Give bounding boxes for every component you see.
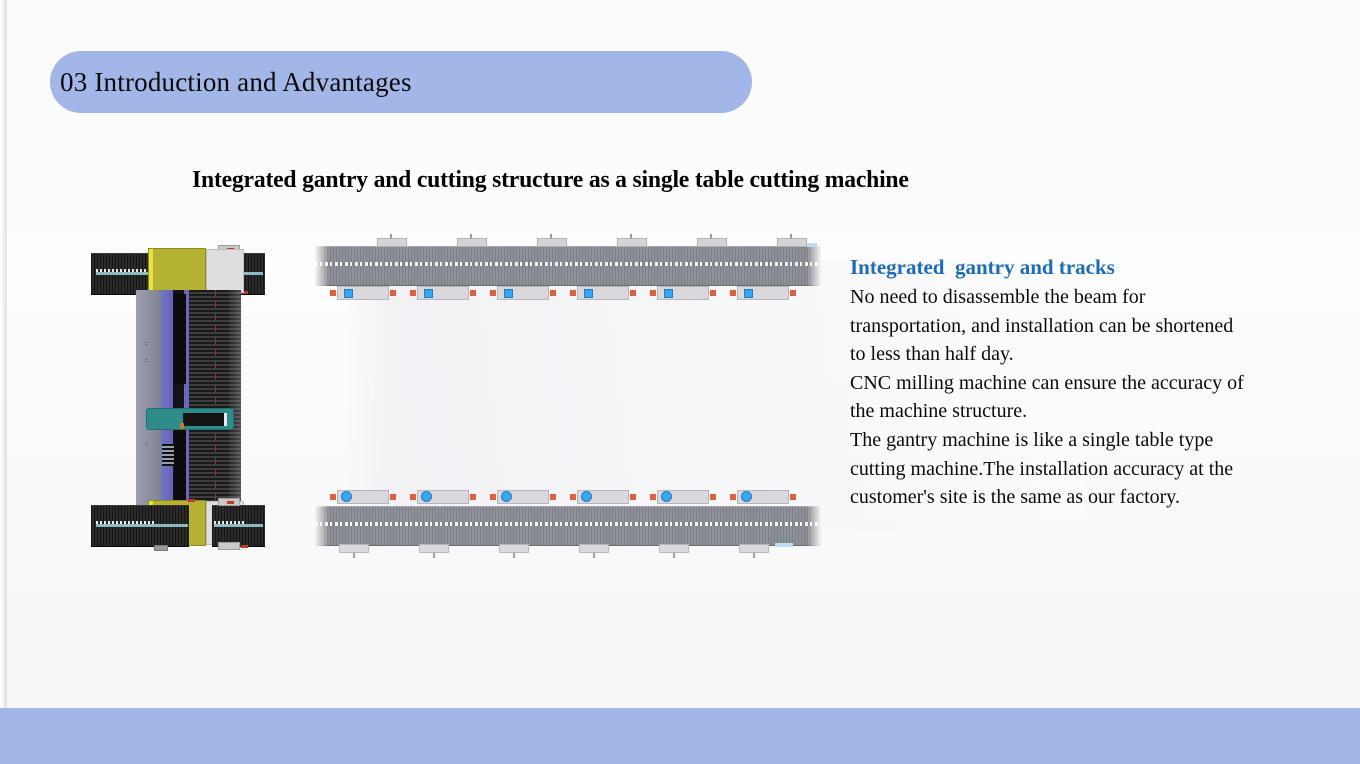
bracket-orange-tab [730, 494, 736, 500]
gantry-fastener-dot [145, 359, 148, 362]
bracket-orange-tab [650, 290, 656, 296]
top-track-mount-nub [617, 238, 647, 247]
gantry-red-tab [188, 499, 195, 502]
bracket-orange-tab [470, 494, 476, 500]
top-track-mount-nub [537, 238, 567, 247]
top-track-bracket [337, 286, 389, 300]
top-track-mount-nub [457, 238, 487, 247]
bottom-track-body [315, 506, 821, 546]
bottom-track-mount-nub [659, 544, 689, 553]
gantry-inner-black-upper [174, 294, 186, 384]
bottom-track-right-taper [807, 506, 821, 546]
bracket-orange-tab [570, 494, 576, 500]
gantry-cutting-head-carriage [146, 408, 234, 430]
dual-track-figure [315, 240, 821, 552]
bottom-bracket-blue-hub [581, 491, 592, 502]
bottom-bracket-blue-hub [661, 491, 672, 502]
gantry-red-tab [241, 545, 248, 548]
bracket-orange-tab [730, 290, 736, 296]
bracket-orange-tab [330, 494, 336, 500]
bracket-orange-tab [710, 290, 716, 296]
top-track-right-taper [807, 246, 821, 286]
bracket-orange-tab [470, 290, 476, 296]
top-track-bracket [497, 286, 549, 300]
bracket-orange-tab [790, 290, 796, 296]
description-text-column: Integrated gantry and tracks No need to … [850, 253, 1250, 512]
bracket-orange-tab [550, 290, 556, 296]
bracket-orange-tab [650, 494, 656, 500]
gantry-red-tab [227, 501, 234, 504]
section-header-label: 03 Introduction and Advantages [60, 66, 412, 98]
bracket-orange-tab [390, 494, 396, 500]
gantry-column-gray [136, 290, 161, 508]
bracket-blue-pad [664, 289, 673, 298]
bottom-track-mount-nub [579, 544, 609, 553]
page-left-edge [0, 0, 7, 710]
top-track-seam-line [315, 262, 821, 266]
bracket-orange-tab [410, 494, 416, 500]
slide-canvas: 03 Introduction and Advantages Integrate… [0, 0, 1360, 764]
description-body: No need to disassemble the beam for tran… [850, 283, 1250, 512]
bracket-orange-tab [410, 290, 416, 296]
gantry-top-gray-block [206, 249, 244, 293]
bracket-orange-tab [790, 494, 796, 500]
gantry-column-purple [161, 290, 173, 508]
bottom-bracket-blue-hub [421, 491, 432, 502]
bottom-track-mount-nub [339, 544, 369, 553]
bracket-orange-tab [490, 494, 496, 500]
gantry-top-olive-block [148, 248, 206, 294]
bracket-blue-pad [344, 289, 353, 298]
gantry-rail-dashes [96, 269, 154, 272]
bottom-track-mount-nub [419, 544, 449, 553]
bottom-track-seam-line [315, 522, 821, 526]
gantry-rail-line [96, 524, 188, 527]
bracket-orange-tab [490, 290, 496, 296]
bracket-orange-tab [550, 494, 556, 500]
gantry-fastener-dot [145, 442, 148, 445]
bottom-track-mount-nub [499, 544, 529, 553]
top-track-bracket [577, 286, 629, 300]
bracket-orange-tab [390, 290, 396, 296]
top-track-left-taper [315, 246, 329, 286]
bottom-track-mount-nub [739, 544, 769, 553]
bracket-orange-tab [570, 290, 576, 296]
page-title: Integrated gantry and cutting structure … [192, 167, 909, 194]
top-track-mount-nub [697, 238, 727, 247]
gantry-column-sheen [229, 290, 241, 508]
bracket-orange-tab [630, 494, 636, 500]
bottom-bracket-blue-hub [741, 491, 752, 502]
carriage-tab [180, 423, 184, 429]
top-track-mount-nub [777, 238, 807, 247]
gantry-rail-line [214, 524, 263, 527]
bottom-bracket-blue-hub [341, 491, 352, 502]
bracket-orange-tab [330, 290, 336, 296]
description-heading: Integrated gantry and tracks [850, 253, 1250, 281]
bottom-bracket-blue-hub [501, 491, 512, 502]
bracket-blue-pad [584, 289, 593, 298]
gantry-rail-dashes [214, 521, 244, 524]
gantry-rail-dashes [96, 521, 154, 524]
gantry-foot [154, 545, 168, 551]
bracket-orange-tab [630, 290, 636, 296]
top-track-mount-nub [377, 238, 407, 247]
top-track-bracket [657, 286, 709, 300]
bracket-blue-pad [424, 289, 433, 298]
bracket-blue-pad [744, 289, 753, 298]
top-track-bracket [417, 286, 469, 300]
top-track-body [315, 246, 821, 286]
carriage-slot [183, 413, 227, 426]
gantry-inner-black-lower [174, 424, 186, 500]
bracket-blue-pad [504, 289, 513, 298]
gantry-bottom-cap [218, 542, 240, 550]
top-track-bracket [737, 286, 789, 300]
footer-banner [0, 708, 1360, 764]
bottom-track-left-taper [315, 506, 329, 546]
bracket-orange-tab [710, 494, 716, 500]
bottom-track-edge-marker [775, 543, 793, 547]
gantry-ladder-detail [162, 444, 174, 466]
gantry-front-view-figure [88, 246, 268, 552]
gantry-fastener-dot [145, 342, 148, 345]
